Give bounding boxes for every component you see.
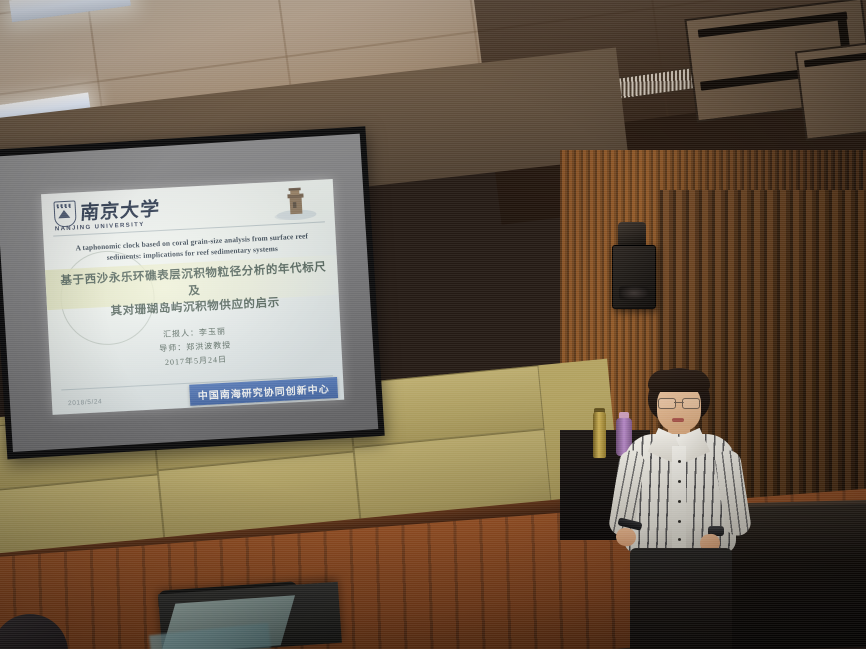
logo-chinese-text: 南京大学 (80, 199, 161, 222)
presenter-person (604, 368, 754, 649)
screen-surface: 南京大学 NANJING UNIVERSITY A taphonomic clo… (0, 134, 378, 452)
blouse-placket (672, 446, 686, 550)
shield-crest-icon (53, 200, 76, 227)
presenter-fringe (648, 370, 710, 392)
projection-screen: 南京大学 NANJING UNIVERSITY A taphonomic clo… (0, 126, 385, 459)
pagoda-watercolor-icon (271, 186, 319, 222)
lecture-hall-photo: 南京大学 NANJING UNIVERSITY A taphonomic clo… (0, 0, 866, 649)
wall-speaker (612, 245, 656, 309)
slide-footer-date: 2018/5/24 (68, 398, 103, 407)
presenter-skirt (630, 548, 732, 649)
ceiling-ac-unit-secondary (795, 41, 866, 141)
eyeglasses-icon (658, 398, 700, 407)
presentation-slide: 南京大学 NANJING UNIVERSITY A taphonomic clo… (41, 179, 344, 415)
presenter-mouth (672, 418, 684, 422)
